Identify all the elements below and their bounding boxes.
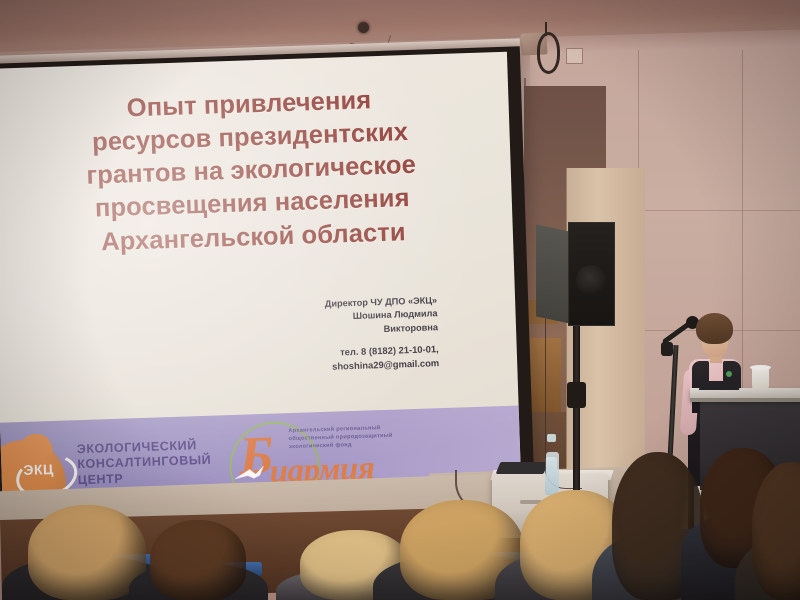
ekc-name-block: ЭКОЛОГИЧЕСКИЙ КОНСАЛТИНГОВЫЙ ЦЕНТР bbox=[77, 438, 212, 488]
wall-socket-plate bbox=[566, 48, 583, 64]
audience-brunette-left bbox=[150, 520, 246, 600]
slide-presenter-block: Директор ЧУ ДПО «ЭКЦ» Шошина Людмила Вик… bbox=[325, 294, 439, 338]
slide-contact-block: тел. 8 (8182) 21-10-01, shoshina29@gmail… bbox=[331, 342, 439, 374]
paper-cup-icon bbox=[752, 367, 769, 390]
water-bottle-floor-icon bbox=[546, 452, 559, 494]
laptop-device[interactable] bbox=[496, 462, 549, 474]
projection-screen: Опыт привлечения ресурсов президентских … bbox=[0, 52, 522, 527]
pa-speaker-side bbox=[536, 224, 570, 323]
coiled-cable-icon bbox=[537, 32, 560, 74]
microphone-stand-clamp bbox=[661, 342, 673, 356]
presenter-hair bbox=[696, 313, 733, 344]
paper-cup-rim bbox=[750, 365, 771, 370]
ekc-mark-text: ЭКЦ bbox=[23, 461, 54, 478]
biarmia-subtitle-block: Архангельский региональный общественный … bbox=[288, 423, 409, 451]
slide-title: Опыт привлечения ресурсов президентских … bbox=[0, 80, 513, 263]
podium-edge bbox=[690, 398, 800, 402]
projection-screen-frame: Опыт привлечения ресурсов президентских … bbox=[0, 46, 535, 533]
presenter-name-2: Викторовна bbox=[325, 321, 438, 338]
wall-seam bbox=[640, 210, 800, 211]
podium-papers bbox=[699, 381, 741, 390]
contact-email: shoshina29@gmail.com bbox=[332, 356, 440, 374]
presenter-badge-icon bbox=[726, 371, 732, 377]
screenshot-root: Опыт привлечения ресурсов президентских … bbox=[0, 0, 800, 600]
speaker-stand-clamp bbox=[567, 382, 586, 408]
pa-speaker-cone bbox=[576, 265, 606, 295]
